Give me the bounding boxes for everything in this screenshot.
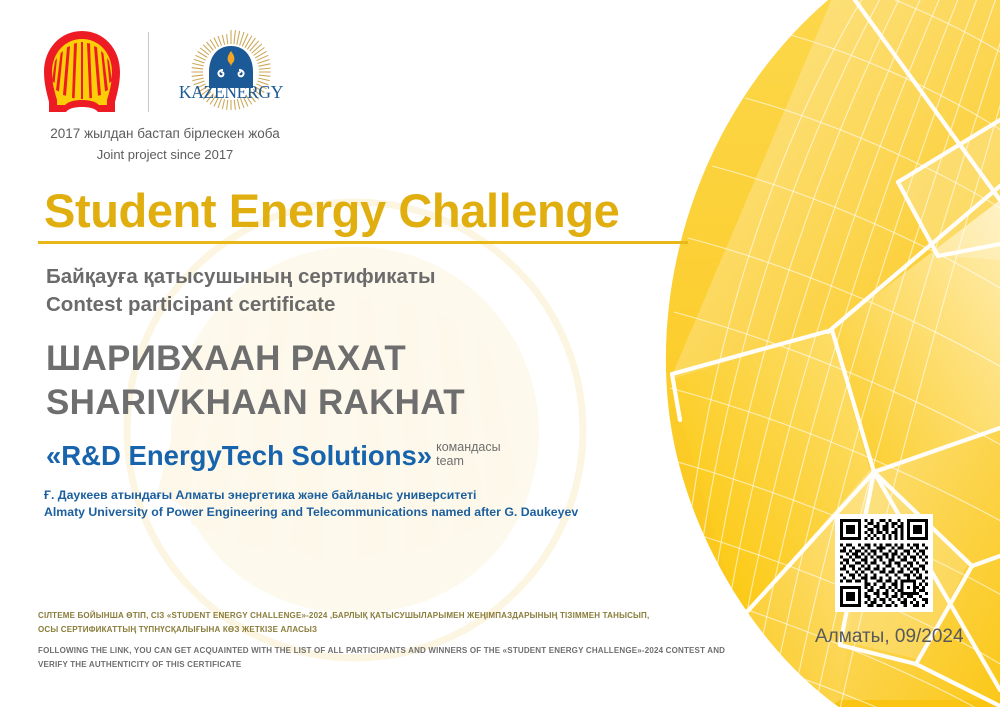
university-kz: Ғ. Даукеев атындағы Алматы энергетика жә… — [44, 487, 578, 504]
subtitle-en: Contest participant certificate — [46, 291, 435, 319]
page-title: Student Energy Challenge — [44, 183, 619, 238]
fineprint-kz-line1: СІЛТЕМЕ БОЙЫНША ӨТІП, СІЗ «STUDENT ENERG… — [38, 609, 649, 623]
participant-name-kz: ШАРИВХААН РАХАТ — [46, 337, 465, 381]
fineprint-en-line2: VERIFY THE AUTHENTICITY OF THIS CERTIFIC… — [38, 658, 725, 672]
logo-divider — [148, 32, 149, 112]
joint-project-en: Joint project since 2017 — [36, 145, 294, 165]
kazenergy-wordmark: KAZENERGY — [179, 82, 284, 102]
fineprint-en-line1: FOLLOWING THE LINK, YOU CAN GET ACQUAINT… — [38, 644, 725, 658]
university-en: Almaty University of Power Engineering a… — [44, 504, 578, 521]
participant-name-en: SHARIVKHAAN RAKHAT — [46, 381, 465, 425]
team-name: «R&D EnergyTech Solutions» — [46, 442, 432, 470]
fineprint-kz-line2: ОСЫ СЕРТИФИКАТТЫҢ ТҮПНҮСҚАЛЫҒЫНА КӨЗ ЖЕТ… — [38, 623, 649, 637]
joint-project-kz: 2017 жылдан бастап бірлескен жоба — [36, 124, 294, 145]
fineprint-kazakh: СІЛТЕМЕ БОЙЫНША ӨТІП, СІЗ «STUDENT ENERG… — [38, 609, 649, 637]
university-name: Ғ. Даукеев атындағы Алматы энергетика жә… — [44, 487, 578, 522]
header-logo-row: KAZENERGY — [40, 24, 291, 120]
kazenergy-logo-icon: KAZENERGY — [171, 26, 291, 118]
joint-project-caption: 2017 жылдан бастап бірлескен жоба Joint … — [36, 124, 294, 165]
team-suffix: командасы team — [436, 440, 501, 470]
city-date: Алматы, 09/2024 — [815, 626, 964, 648]
qr-code[interactable] — [835, 514, 933, 612]
certificate-subtitle: Байқауға қатысушының сертификаты Contest… — [46, 263, 435, 320]
subtitle-kz: Байқауға қатысушының сертификаты — [46, 263, 435, 291]
shell-logo-icon — [40, 28, 124, 116]
team-suffix-en: team — [436, 454, 501, 468]
participant-name: ШАРИВХААН РАХАТ SHARIVKHAAN RAKHAT — [46, 337, 465, 426]
title-underline-rule — [38, 241, 688, 244]
team-row: «R&D EnergyTech Solutions» командасы tea… — [46, 440, 501, 470]
team-suffix-kz: командасы — [436, 440, 501, 454]
fineprint-english: FOLLOWING THE LINK, YOU CAN GET ACQUAINT… — [38, 644, 725, 672]
